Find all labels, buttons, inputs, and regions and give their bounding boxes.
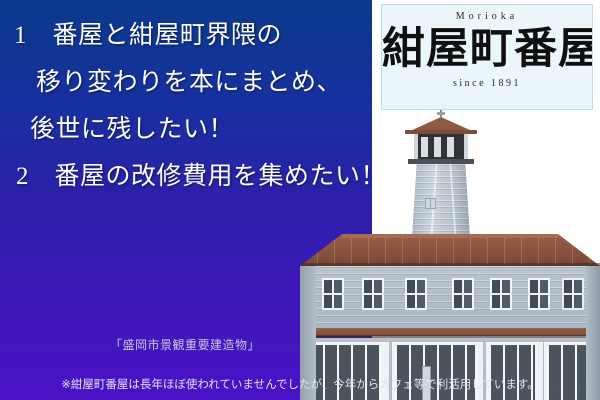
- footer-note: ※紺屋町番屋は長年ほぼ使われていませんでしたが、今年からカフェ等で利活用していま…: [0, 376, 600, 392]
- heritage-caption: 「盛岡市景観重要建造物」: [110, 336, 260, 353]
- tower-deck: [408, 159, 474, 164]
- logo-sign-panel: Morioka 紺屋町番屋 since 1891: [381, 4, 593, 110]
- upper-floor-siding: [300, 266, 600, 328]
- tower-lantern-glass: [421, 137, 461, 157]
- upper-window: [490, 278, 512, 310]
- logo-top-label: Morioka: [382, 11, 592, 22]
- main-roof-ridge: [342, 234, 558, 238]
- logo-main-title: 紺屋町番屋: [382, 23, 592, 75]
- headline-line-1: 1 番屋と紺屋町界隈の: [0, 12, 388, 59]
- upper-window: [362, 278, 384, 310]
- tower-window: [425, 198, 436, 209]
- tower-roof: [410, 117, 472, 131]
- upper-window: [405, 278, 427, 310]
- building-photo: [300, 108, 600, 370]
- tower-finial-ball-icon: [437, 112, 445, 115]
- main-roof-seams: [300, 234, 600, 266]
- poster-image: 1 番屋と紺屋町界隈の 移り変わりを本にまとめ、 後世に残したい！ 2 番屋の改…: [0, 0, 600, 400]
- upper-window: [452, 278, 474, 310]
- logo-bottom-label: since 1891: [382, 78, 592, 89]
- headline-line-2: 移り変わりを本にまとめ、: [0, 59, 388, 106]
- upper-window: [562, 278, 584, 310]
- tower-siding: [412, 164, 470, 238]
- upper-window: [528, 278, 550, 310]
- upper-window: [322, 278, 344, 310]
